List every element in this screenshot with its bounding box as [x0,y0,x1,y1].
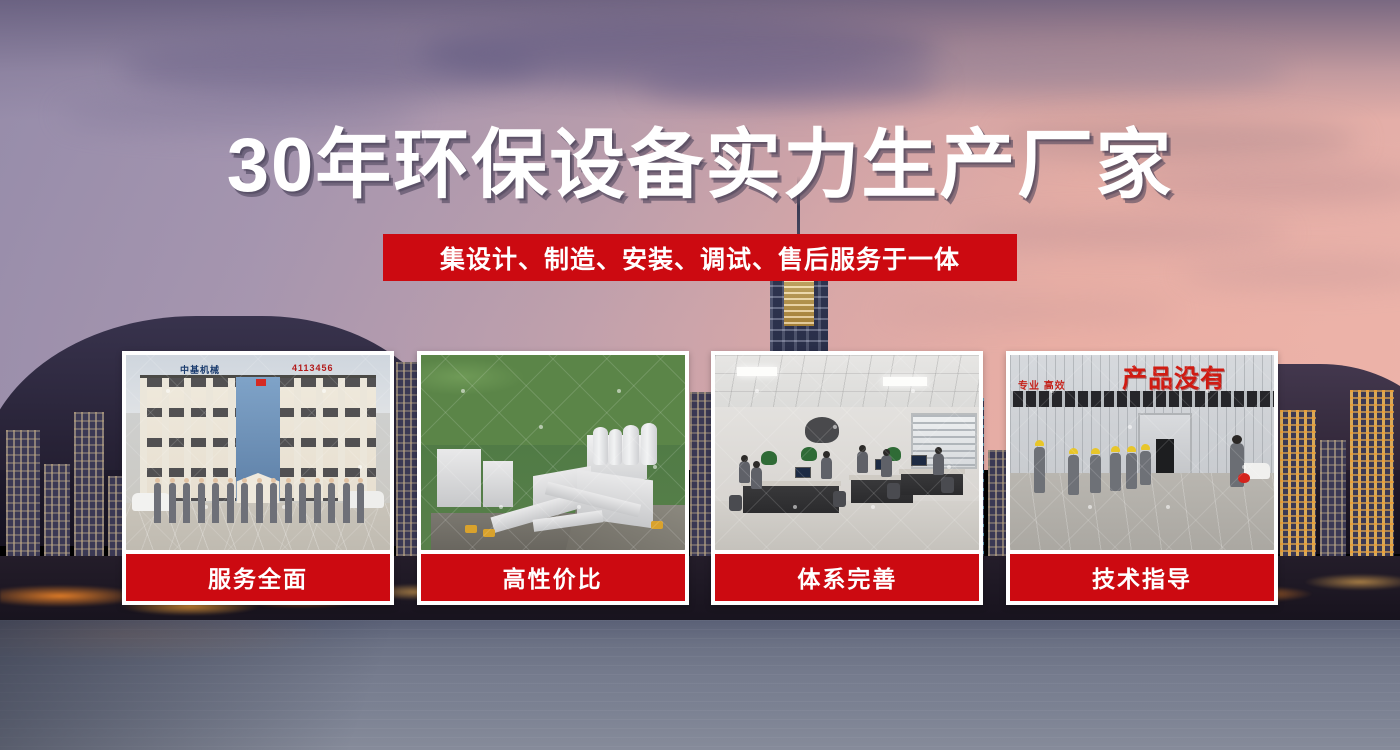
excavator [651,521,663,529]
card-photo-aerial-plant [421,355,685,550]
monitor [911,455,927,466]
photo-scene: 专业 高效 产品没有 [1010,355,1274,550]
chair [729,495,742,511]
card-photo-office-interior [715,355,979,550]
chair [887,483,900,499]
factory-sign-text: 产品没有 [1122,359,1226,395]
person [933,453,944,475]
wall-decal [805,417,839,443]
potted-plant [761,451,777,465]
subtitle-banner: 集设计、制造、安装、调试、售后服务于一体 [383,234,1017,281]
feature-card[interactable]: 高性价比 [417,351,689,605]
excavator [483,529,495,537]
ceiling [715,355,979,413]
photo-scene: 中基机械 4113456 [126,355,390,550]
banner-content: 30年环保设备实力生产厂家 集设计、制造、安装、调试、售后服务于一体 中基机械 … [0,0,1400,750]
chair [941,477,954,493]
building-phone-text: 4113456 [292,363,334,373]
ceiling-light [883,377,927,386]
promo-banner: 30年环保设备实力生产厂家 集设计、制造、安装、调试、售后服务于一体 中基机械 … [0,0,1400,750]
person [751,467,762,489]
building-sign-text: 中基机械 [180,363,220,376]
feature-card[interactable]: 中基机械 4113456 [122,351,394,605]
person [739,461,750,483]
card-caption: 技术指导 [1010,554,1274,601]
person [821,457,832,479]
card-caption: 高性价比 [421,554,685,601]
card-photo-office-building: 中基机械 4113456 [126,355,390,550]
monitor [795,467,811,478]
desk-top [899,469,965,474]
wall-window-strip [1010,391,1274,407]
worker [1126,453,1137,489]
person [857,451,868,473]
page-title: 30年环保设备实力生产厂家 [0,128,1400,204]
subtitle-text: 集设计、制造、安装、调试、售后服务于一体 [440,240,960,276]
worker [1090,455,1101,493]
photo-scene [715,355,979,550]
silo [641,423,657,465]
person [881,455,892,477]
ceiling-light [737,367,777,376]
card-caption-text: 技术指导 [1092,560,1192,594]
card-caption: 服务全面 [126,554,390,601]
factory-door [1156,439,1174,473]
card-photo-factory-workers: 专业 高效 产品没有 [1010,355,1274,550]
worker [1068,455,1079,495]
factory-slogan-small: 专业 高效 [1018,377,1066,392]
feature-card[interactable]: 专业 高效 产品没有 [1006,351,1278,605]
silo [593,427,608,465]
silo [609,429,622,465]
card-caption-text: 高性价比 [503,560,603,594]
potted-plant [801,447,817,461]
feature-card[interactable]: 体系完善 [711,351,983,605]
chair [833,491,846,507]
worker [1140,451,1151,485]
worker [1034,447,1045,493]
excavator [465,525,477,533]
card-caption-text: 服务全面 [208,560,308,594]
worker [1110,453,1121,491]
flag-icon [256,379,266,386]
industrial-plant [437,421,671,541]
red-helmet [1238,473,1250,483]
feature-card-list: 中基机械 4113456 [122,351,1278,605]
card-caption-text: 体系完善 [797,560,897,594]
card-caption: 体系完善 [715,554,979,601]
silo [623,425,639,465]
staff-lineup [154,483,364,527]
photo-scene [421,355,685,550]
